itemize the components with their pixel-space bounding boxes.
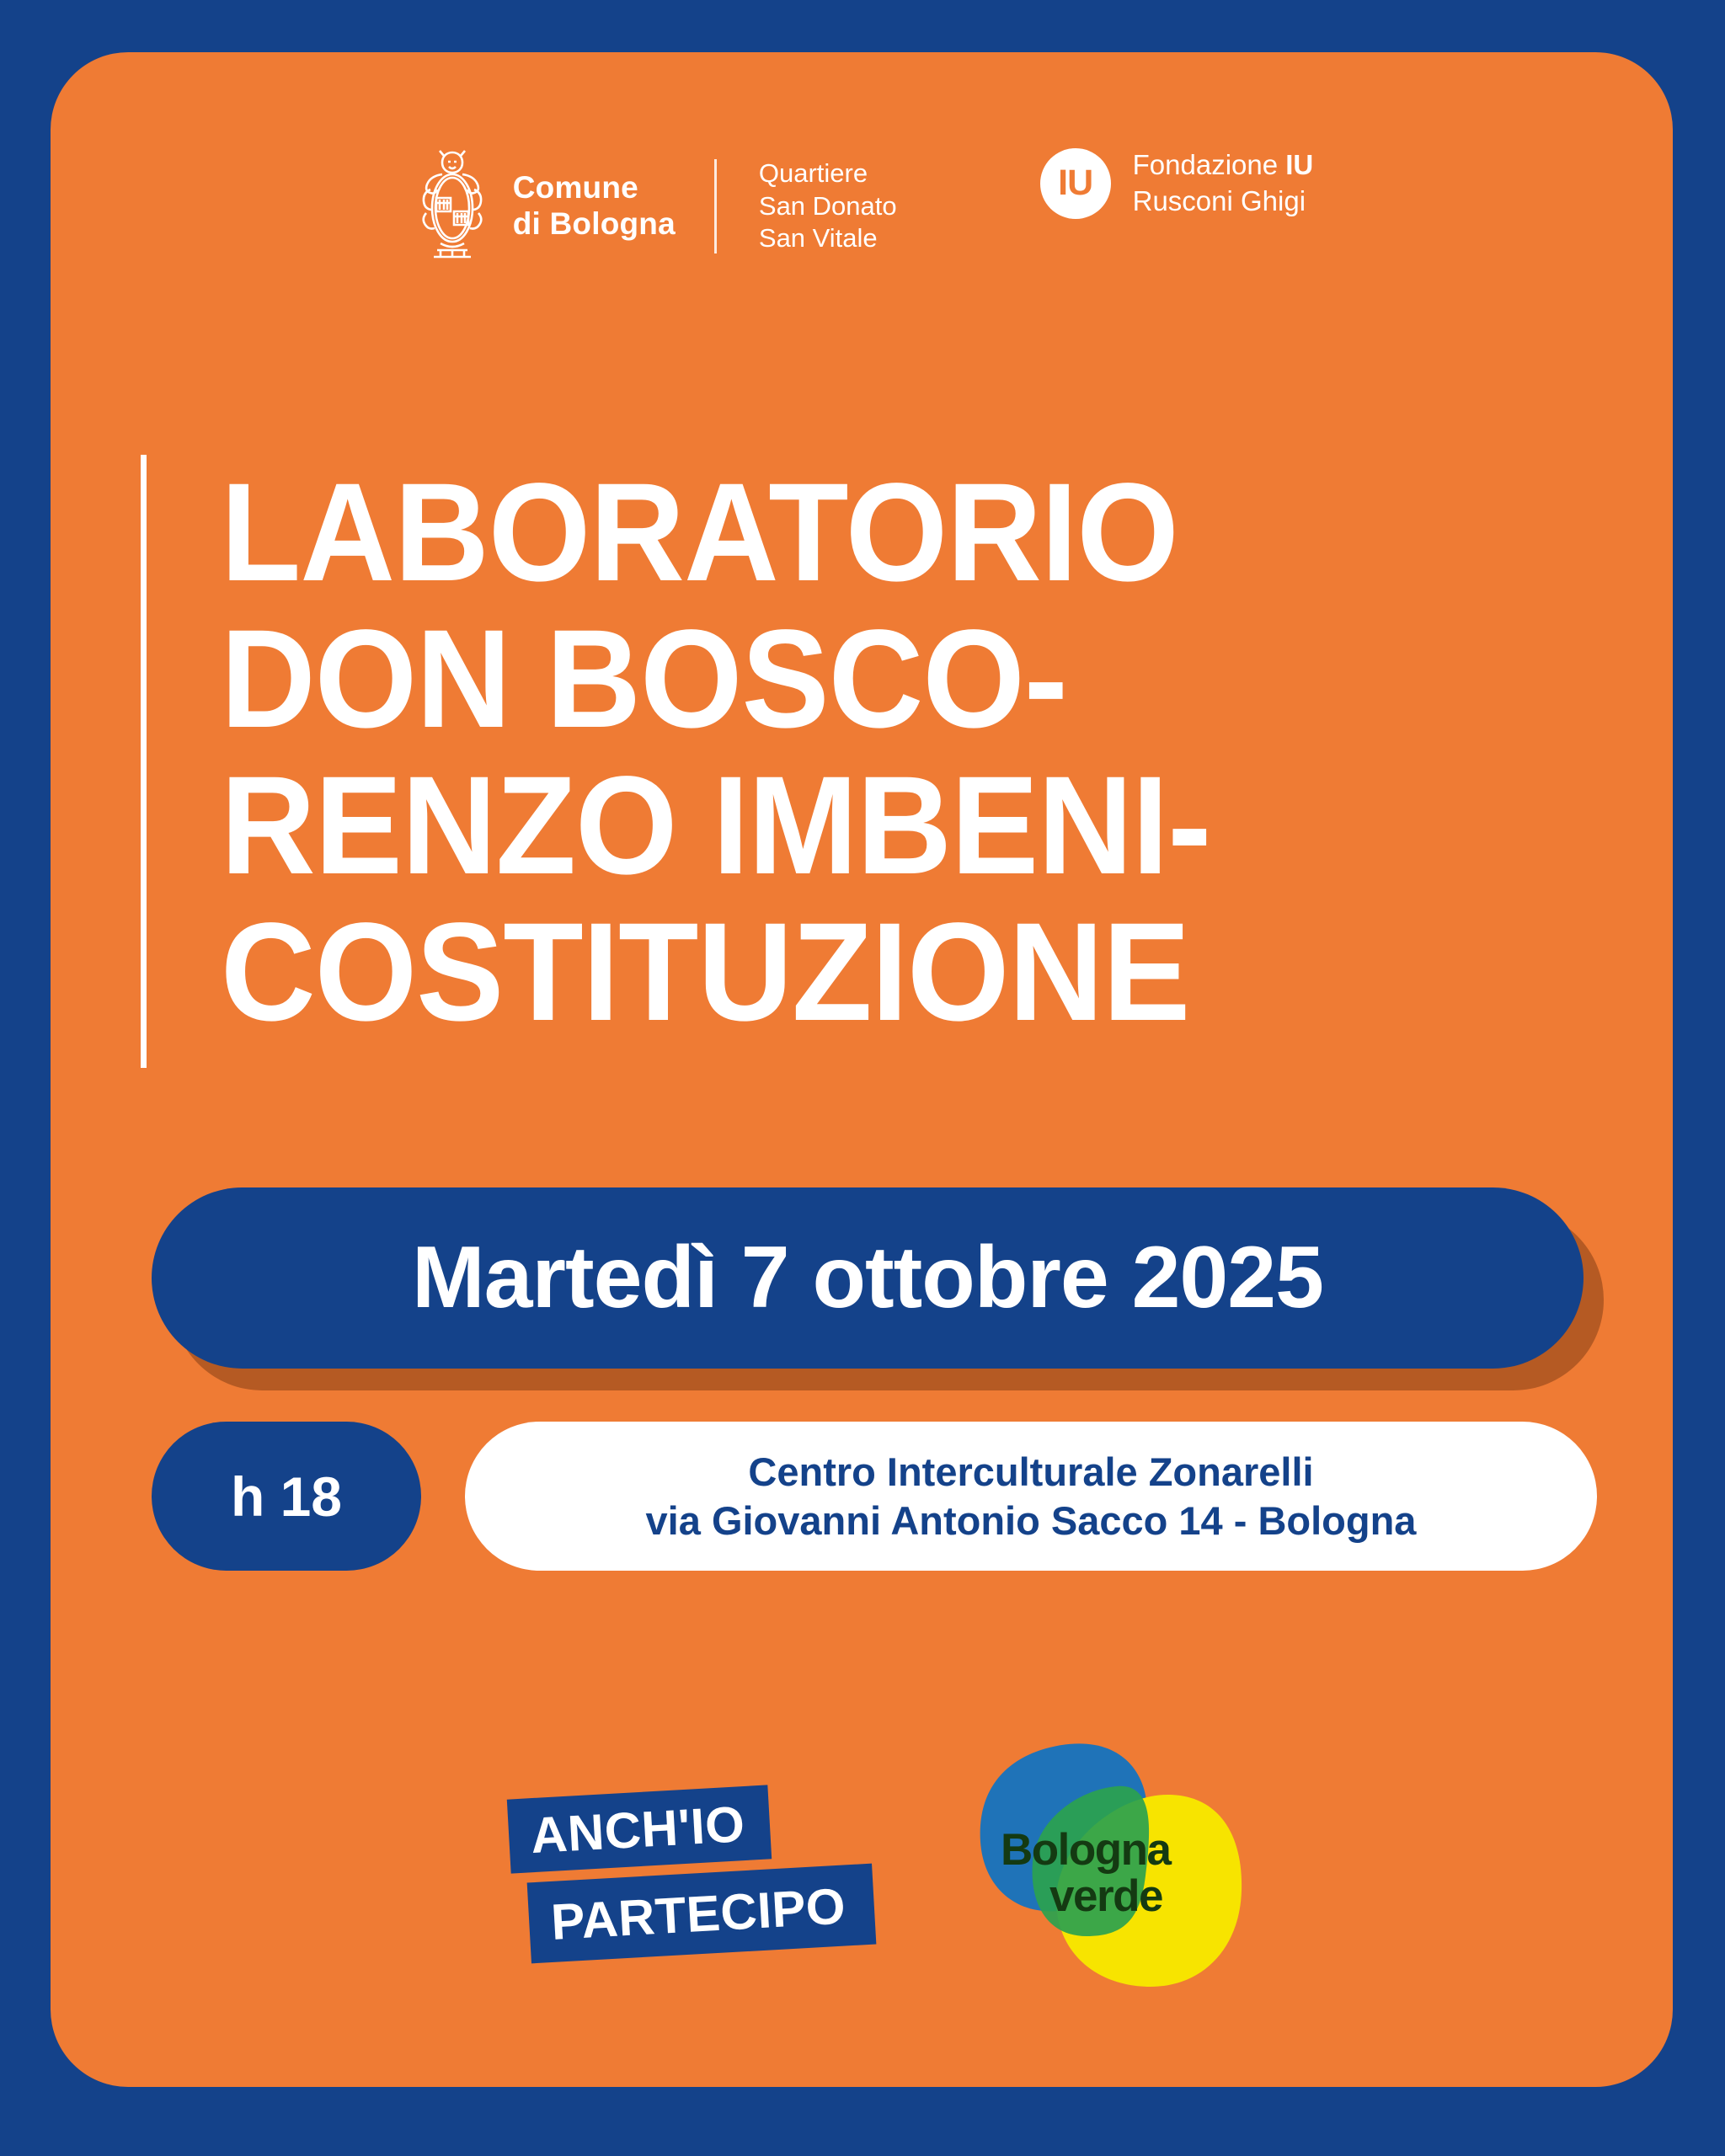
bologna-verde-line2: verde <box>1001 1873 1253 1919</box>
bologna-verde-line1: Bologna <box>1001 1827 1253 1873</box>
bologna-verde-wordmark: Bologna verde <box>1001 1827 1253 1919</box>
title-line-2: DON BOSCO- <box>221 606 1210 753</box>
quartiere-label: Quartiere San Donato San Vitale <box>759 157 897 254</box>
fondazione-line1-b: IU <box>1285 149 1313 180</box>
comune-line2: di Bologna <box>513 206 676 243</box>
bologna-coat-of-arms-icon <box>412 147 493 265</box>
fondazione-line1: Fondazione IU <box>1133 147 1314 184</box>
fondazione-iu-logo: IU Fondazione IU Rusconi Ghigi <box>1040 147 1314 220</box>
comune-line1: Comune <box>513 170 676 206</box>
venue-address: via Giovanni Antonio Sacco 14 - Bologna <box>646 1497 1417 1545</box>
title-line-4: COSTITUZIONE <box>221 899 1210 1046</box>
anchio-band-line2: PARTECIPO <box>527 1864 877 1964</box>
venue-name: Centro Interculturale Zonarelli <box>748 1448 1313 1496</box>
comune-label: Comune di Bologna <box>513 170 676 243</box>
event-date-text: Martedì 7 ottobre 2025 <box>412 1228 1323 1328</box>
quartiere-line3: San Vitale <box>759 222 897 254</box>
iu-monogram-icon: IU <box>1040 148 1111 219</box>
comune-di-bologna-logo: Comune di Bologna Quartiere San Donato S… <box>412 147 897 265</box>
logo-divider <box>714 159 717 253</box>
fondazione-line2: Rusconi Ghigi <box>1133 184 1314 220</box>
quartiere-line1: Quartiere <box>759 157 897 189</box>
event-venue-box: Centro Interculturale Zonarelli via Giov… <box>465 1422 1597 1571</box>
header-logos: Comune di Bologna Quartiere San Donato S… <box>0 147 1725 265</box>
poster-root: Comune di Bologna Quartiere San Donato S… <box>0 0 1725 2156</box>
event-time-badge: h 18 <box>152 1422 421 1571</box>
anchio-partecipo-logo: ANCH'IO PARTECIPO <box>497 1792 935 2020</box>
fondazione-line1-a: Fondazione <box>1133 149 1286 180</box>
page-title: LABORATORIO DON BOSCO- RENZO IMBENI- COS… <box>141 455 1623 1068</box>
bologna-verde-logo: Bologna verde <box>969 1739 1255 2030</box>
fondazione-label: Fondazione IU Rusconi Ghigi <box>1133 147 1314 220</box>
event-time-text: h 18 <box>231 1465 342 1529</box>
event-date-banner: Martedì 7 ottobre 2025 <box>152 1187 1583 1369</box>
anchio-band-line1: ANCH'IO <box>507 1785 772 1873</box>
quartiere-line2: San Donato <box>759 190 897 222</box>
title-accent-rule <box>141 455 147 1068</box>
title-line-3: RENZO IMBENI- <box>221 753 1210 899</box>
title-lines: LABORATORIO DON BOSCO- RENZO IMBENI- COS… <box>221 455 1274 1068</box>
title-line-1: LABORATORIO <box>221 460 1210 606</box>
poster-panel <box>51 52 1673 2087</box>
